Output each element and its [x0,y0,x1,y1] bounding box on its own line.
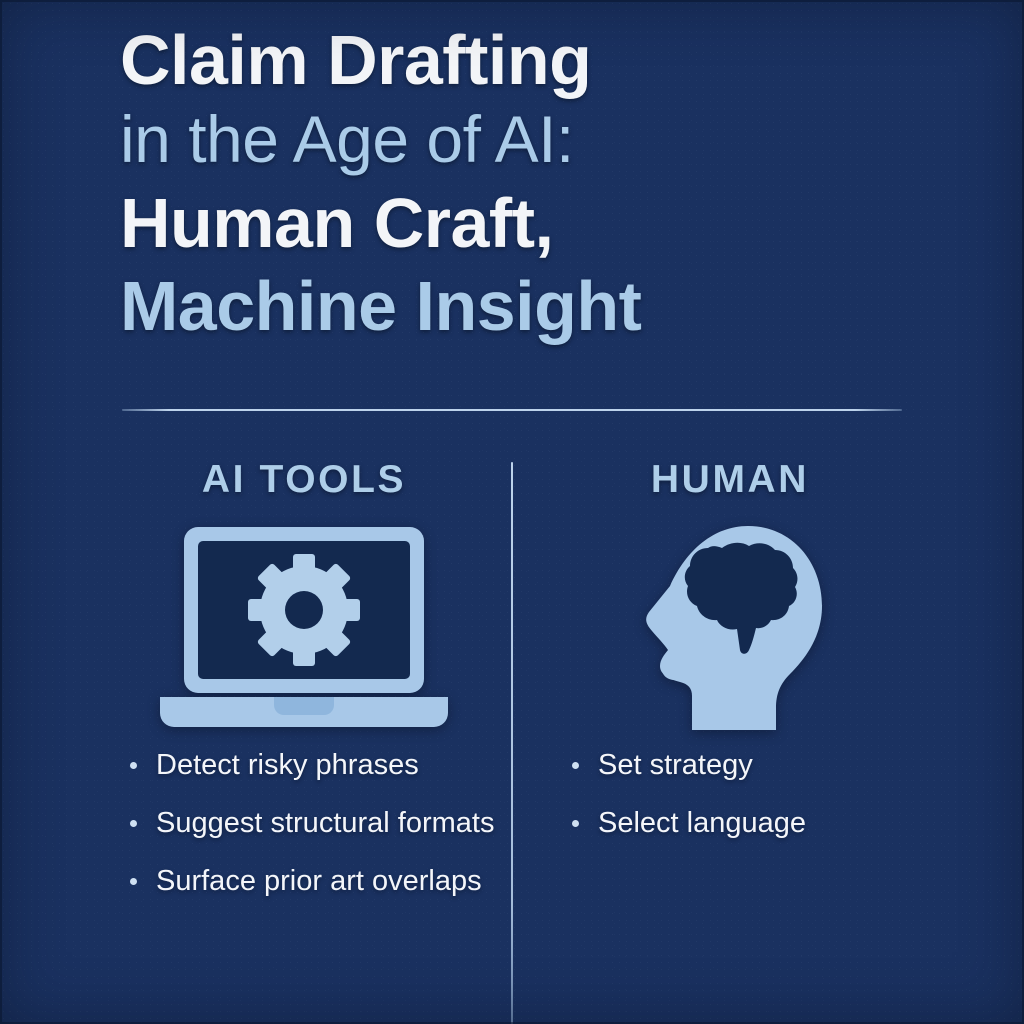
list-item: Detect risky phrases [126,748,504,784]
list-item: Suggest structural formats [126,806,504,842]
poster-title: Claim Drafting in the Age of AI: Human C… [120,14,920,341]
infographic-poster: Claim Drafting in the Age of AI: Human C… [0,0,1024,1024]
vertical-divider [511,462,513,1024]
title-line-4: Machine Insight [120,258,920,341]
list-item: Select language [568,806,930,842]
title-line-1: Claim Drafting [120,14,920,95]
title-line-3: Human Craft, [120,173,920,258]
head-brain-icon [530,508,930,748]
title-line-2: in the Age of AI: [120,95,920,172]
column-heading-ai-tools: AI TOOLS [104,452,504,508]
column-human: HUMAN Set strategy Select language [530,452,930,864]
horizontal-divider [122,409,902,411]
list-item: Set strategy [568,748,930,784]
laptop-gear-icon [104,508,504,748]
column-heading-human: HUMAN [530,452,930,508]
list-item: Surface prior art overlaps [126,864,504,900]
column-ai-tools: AI TOOLS [104,452,504,922]
bullet-list-human: Set strategy Select language [530,748,930,842]
bullet-list-ai-tools: Detect risky phrases Suggest structural … [104,748,504,900]
